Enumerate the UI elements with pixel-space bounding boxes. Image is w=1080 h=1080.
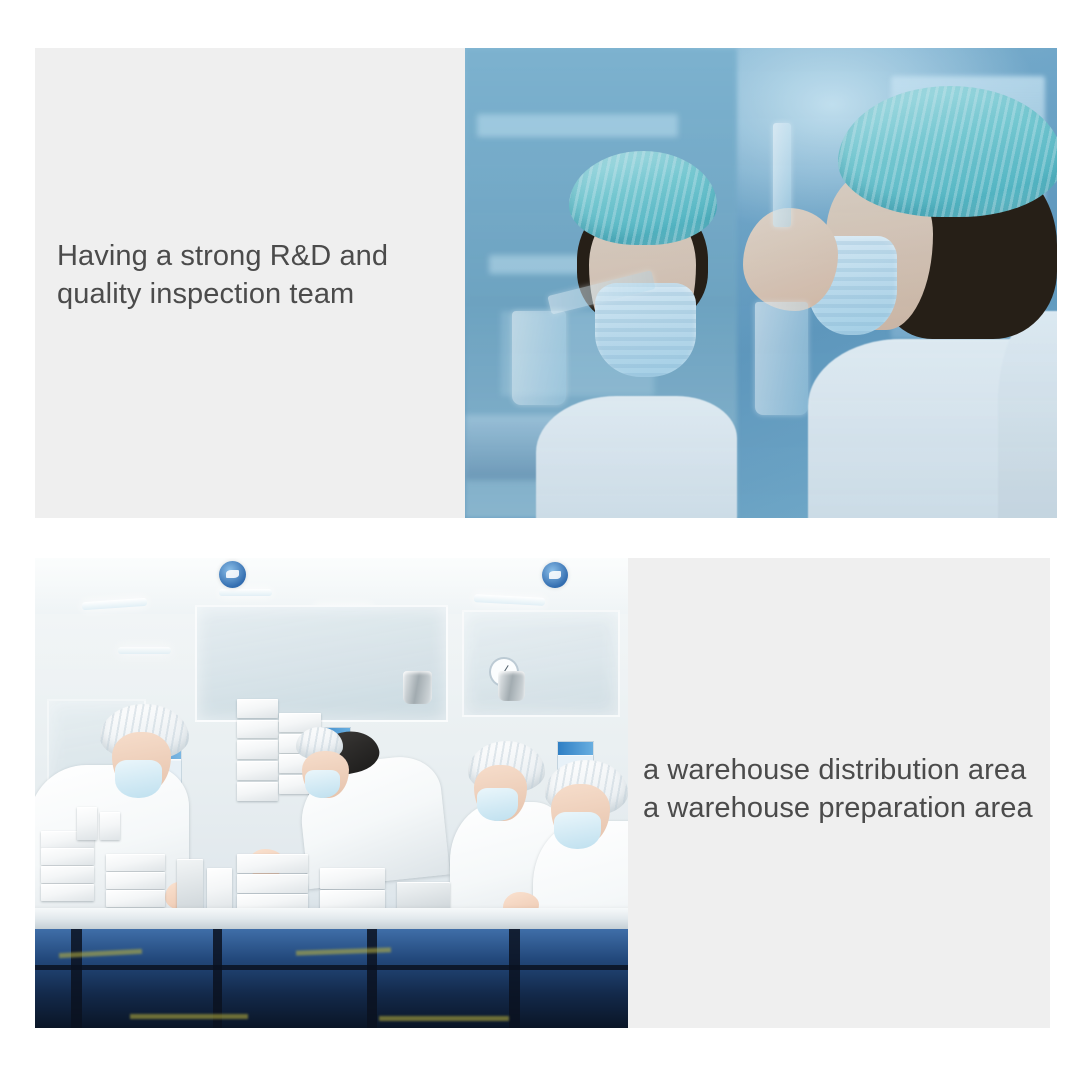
table-leg xyxy=(509,929,520,1028)
ceiling-lamp xyxy=(219,589,272,596)
floor xyxy=(35,929,628,1028)
warehouse-wall-sign-icon xyxy=(219,561,246,588)
table-leg xyxy=(71,929,83,1028)
gloved-hand xyxy=(743,208,838,311)
page-canvas: Having a strong R&D and quality inspecti… xyxy=(0,0,1080,1080)
stainless-pot xyxy=(498,671,525,702)
carton-box-upright xyxy=(77,807,97,840)
carton-box xyxy=(41,866,94,883)
stainless-pot xyxy=(403,671,433,704)
face-mask xyxy=(554,812,601,850)
floor-marking xyxy=(379,1016,509,1021)
lab-coat xyxy=(536,396,737,518)
rnd-quality-photo xyxy=(465,48,1057,518)
interior-window xyxy=(462,610,620,717)
rnd-quality-caption: Having a strong R&D and quality inspecti… xyxy=(57,238,457,313)
carton-box xyxy=(106,872,165,889)
hairnet-cap xyxy=(569,151,717,245)
warehouse-wall-sign-icon xyxy=(542,562,568,588)
carton-box xyxy=(237,761,279,780)
carton-box xyxy=(237,699,279,718)
face-mask xyxy=(305,770,341,798)
carton-box-upright xyxy=(207,868,232,910)
floor-marking xyxy=(296,947,391,955)
warehouse-caption: a warehouse distribution area a warehous… xyxy=(643,752,1043,827)
face-mask xyxy=(477,788,519,821)
table-crossbar xyxy=(35,965,628,970)
carton-box xyxy=(237,874,308,893)
glass-flask xyxy=(512,311,565,405)
carton-box xyxy=(41,848,94,865)
face-mask xyxy=(115,760,162,798)
glass-pipette xyxy=(773,123,791,226)
ceiling-lamp xyxy=(118,647,171,654)
carton-box-upright xyxy=(177,859,203,911)
glass-beaker xyxy=(755,302,808,415)
carton-box xyxy=(106,854,165,871)
carton-box xyxy=(237,740,279,759)
carton-box xyxy=(237,720,279,739)
carton-box-upright xyxy=(100,812,120,840)
carton-box xyxy=(106,890,165,907)
floor-marking xyxy=(130,1014,249,1019)
interior-window xyxy=(195,605,448,722)
warehouse-photo xyxy=(35,558,628,1028)
carton-box xyxy=(237,782,279,801)
carton-box xyxy=(397,882,450,908)
carton-box xyxy=(320,868,385,889)
table-leg xyxy=(367,929,376,1028)
carton-box xyxy=(41,884,94,901)
carton-box xyxy=(237,854,308,873)
lab-shelf xyxy=(477,114,678,138)
